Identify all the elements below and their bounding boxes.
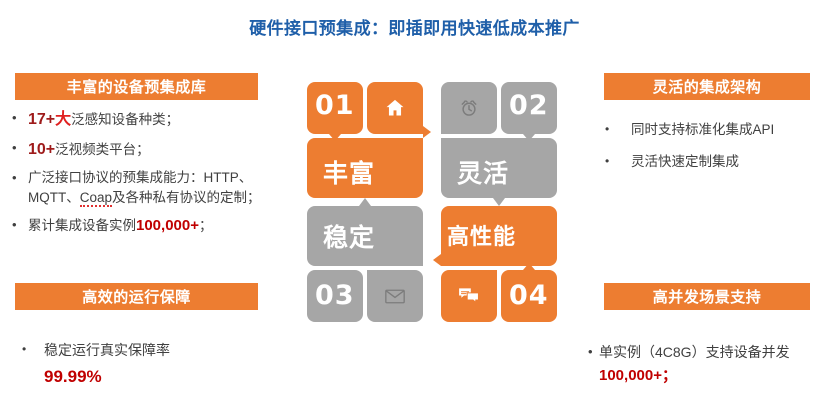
quadrant-01-label: 丰富 (323, 154, 375, 190)
bullet-marker: • (12, 108, 28, 128)
chat-icon (455, 284, 483, 308)
quadrant-03-number: 03 (315, 280, 355, 311)
instances-value: 100,000+ (136, 217, 199, 234)
list-item-text: 17+大泛感知设备种类； (28, 108, 286, 132)
section-header-bottom-right-label: 高并发场景支持 (653, 286, 762, 307)
home-icon (381, 94, 409, 122)
list-item-tail: 泛感知设备种类； (71, 112, 179, 127)
quadrant-02-down-arrow-icon (493, 198, 505, 206)
list-item: • 稳定运行真实保障率 99.99% (22, 340, 282, 390)
quadrant-04-up-tail-icon (523, 263, 535, 270)
slide-canvas: 硬件接口预集成：即插即用快速低成本推广 丰富的设备预集成库 • 17+大泛感知设… (0, 0, 829, 415)
quadrant-04-number: 04 (509, 280, 549, 311)
section-header-bottom-left: 高效的运行保障 (15, 283, 258, 310)
four-quadrant-diagram: 01 丰富 02 灵活 (307, 82, 557, 314)
bullet-list-top-left: • 17+大泛感知设备种类； • 10+泛视频类平台； • 广泛接口协议的预集成… (12, 108, 290, 243)
section-header-top-left-label: 丰富的设备预集成库 (67, 76, 207, 97)
quadrant-04-left-arrow-icon (433, 254, 441, 266)
list-item-tail: 泛视频类平台； (55, 142, 150, 157)
section-header-top-right-label: 灵活的集成架构 (653, 76, 762, 97)
bullet-list-bottom-right: • 单实例（4C8G）支持设备并发100,000+； (588, 342, 826, 393)
concurrency-value: 100,000+； (599, 367, 677, 384)
quadrant-02-number: 02 (509, 90, 549, 121)
protocol-coap: Coap (80, 190, 112, 207)
instances-label: 累计集成设备实例 (28, 218, 136, 233)
section-header-top-left: 丰富的设备预集成库 (15, 73, 258, 100)
list-item: • 累计集成设备实例100,000+； (12, 215, 290, 238)
list-item-text: 广泛接口协议的预集成能力：HTTP、MQTT、Coap及各种私有协议的定制； (28, 168, 286, 209)
bullet-marker: • (605, 120, 631, 138)
uptime-value: 99.99% (44, 364, 274, 390)
list-item-text: 同时支持标准化集成API (631, 120, 827, 140)
value-17-plus: 17+ (28, 111, 55, 128)
section-header-bottom-right: 高并发场景支持 (604, 283, 810, 310)
quadrant-01-right-arrow-icon (423, 126, 431, 138)
protocol-text-tail: 及各种私有协议的定制； (112, 190, 261, 205)
list-item-text: 稳定运行真实保障率 99.99% (44, 340, 274, 390)
section-header-top-right: 灵活的集成架构 (604, 73, 810, 100)
list-item: • 单实例（4C8G）支持设备并发100,000+； (588, 342, 826, 387)
bullet-marker: • (12, 215, 28, 235)
bullet-list-bottom-left: • 稳定运行真实保障率 99.99% (22, 340, 282, 396)
uptime-label: 稳定运行真实保障率 (44, 342, 170, 358)
list-item: • 17+大泛感知设备种类； (12, 108, 290, 132)
bullet-marker: • (12, 138, 28, 158)
quadrant-04-label: 高性能 (447, 219, 516, 251)
value-10-plus: 10+ (28, 141, 55, 158)
bullet-marker: • (12, 168, 28, 188)
bullet-list-top-right: • 同时支持标准化集成API • 灵活快速定制集成 (605, 120, 827, 185)
quadrant-02-label: 灵活 (457, 154, 509, 190)
bullet-marker: • (605, 152, 631, 170)
list-item-text: 累计集成设备实例100,000+； (28, 215, 286, 238)
quadrant-01-number: 01 (315, 90, 355, 121)
quadrant-03-up-arrow-icon (359, 198, 371, 206)
bullet-marker: • (588, 342, 599, 362)
page-title: 硬件接口预集成：即插即用快速低成本推广 (0, 14, 829, 39)
value-da: 大 (55, 111, 71, 128)
quadrant-02-down-tail-icon (523, 134, 535, 141)
concurrency-label: 单实例（4C8G）支持设备并发 (599, 344, 790, 360)
bullet-marker: • (22, 340, 44, 358)
list-item: • 同时支持标准化集成API (605, 120, 827, 140)
list-item-text: 10+泛视频类平台； (28, 138, 286, 162)
quadrant-03-label: 稳定 (323, 218, 375, 254)
quadrant-01-down-tail-icon (329, 134, 341, 141)
mail-icon (381, 284, 409, 308)
clock-icon (455, 94, 483, 122)
section-header-bottom-left-label: 高效的运行保障 (82, 286, 191, 307)
list-item: • 灵活快速定制集成 (605, 152, 827, 172)
list-item-text: 单实例（4C8G）支持设备并发100,000+； (599, 342, 823, 387)
instances-tail: ； (199, 218, 213, 233)
list-item: • 10+泛视频类平台； (12, 138, 290, 162)
list-item-text: 灵活快速定制集成 (631, 152, 827, 172)
list-item: • 广泛接口协议的预集成能力：HTTP、MQTT、Coap及各种私有协议的定制； (12, 168, 290, 209)
